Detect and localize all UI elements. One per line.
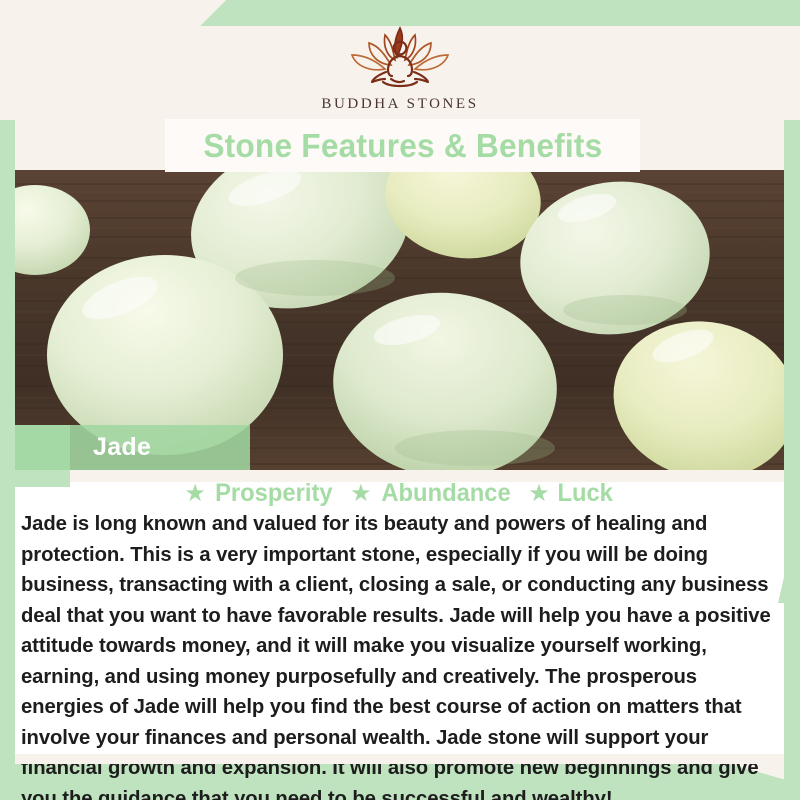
benefit-label: Abundance <box>381 479 510 508</box>
benefit-label: Luck <box>558 479 613 508</box>
star-icon: ★ <box>184 483 206 505</box>
lotus-meditation-icon <box>325 22 475 94</box>
title-banner: Stone Features & Benefits <box>165 119 640 172</box>
star-icon: ★ <box>350 483 372 505</box>
content-panel: ★ Prosperity ★ Abundance ★ Luck Jade is … <box>15 470 784 764</box>
decor-green-left-bar <box>0 0 15 800</box>
stone-name: Jade <box>15 433 151 462</box>
content-bottom-fade <box>15 754 784 764</box>
benefit-label: Prosperity <box>216 479 333 508</box>
brand-logo: BUDDHA STONES <box>0 22 800 113</box>
page-title: Stone Features & Benefits <box>203 127 602 165</box>
infographic-card: BUDDHA STONES Stone Features & Benefits <box>0 0 800 800</box>
brand-name: BUDDHA STONES <box>0 96 800 113</box>
star-icon: ★ <box>528 483 550 505</box>
benefit-item: ★ Abundance <box>350 479 514 508</box>
stone-name-bar: Jade <box>15 425 250 470</box>
benefits-row: ★ Prosperity ★ Abundance ★ Luck <box>15 479 784 508</box>
benefit-item: ★ Prosperity <box>184 479 336 508</box>
benefit-item: ★ Luck <box>528 479 614 508</box>
decor-green-right-bar <box>784 0 800 800</box>
